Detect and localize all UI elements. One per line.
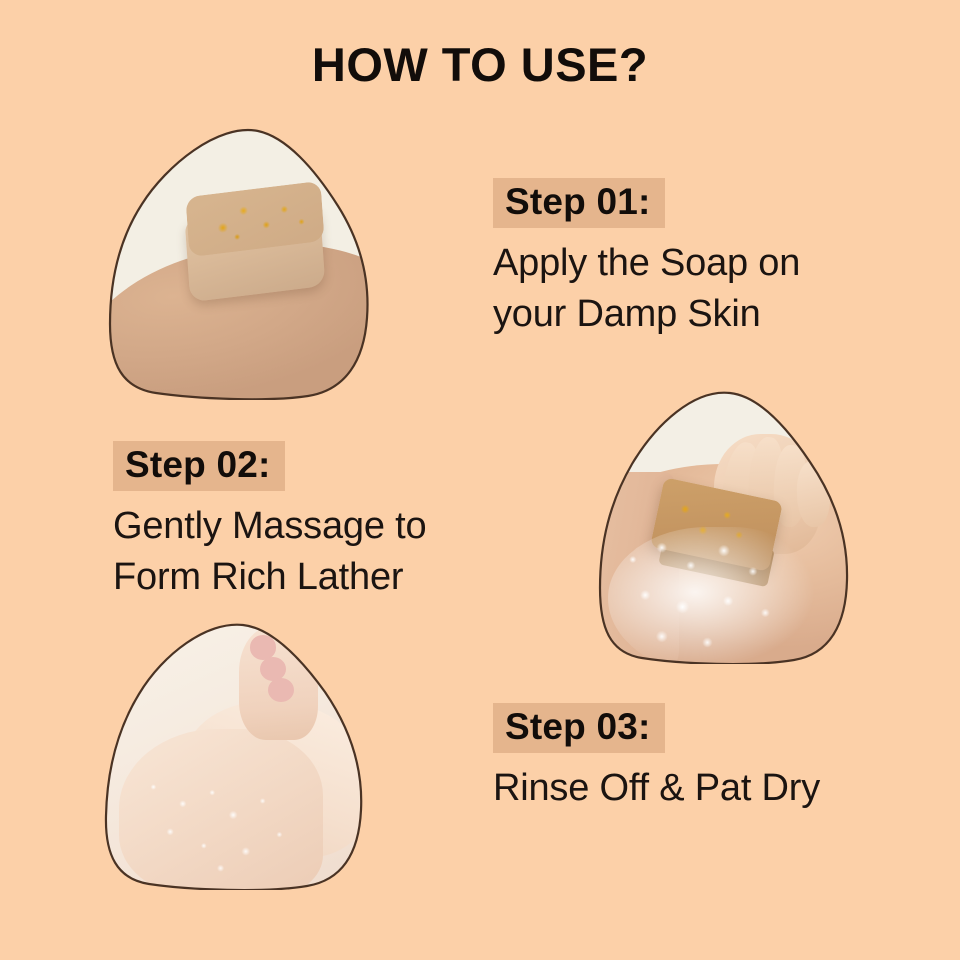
step-image-02 xyxy=(598,390,850,664)
foam-lather xyxy=(608,527,815,664)
step-image-01 xyxy=(108,128,370,400)
step-body-01: Apply the Soap on your Damp Skin xyxy=(493,238,913,340)
step-text-01: Step 01: Apply the Soap on your Damp Ski… xyxy=(493,178,913,340)
step-body-02: Gently Massage to Form Rich Lather xyxy=(113,501,533,603)
step-image-03 xyxy=(103,622,365,890)
step-text-03: Step 03: Rinse Off & Pat Dry xyxy=(493,703,913,814)
soap-bubbles xyxy=(124,745,334,884)
step-label-01: Step 01: xyxy=(493,178,665,228)
page-title: HOW TO USE? xyxy=(0,40,960,90)
finger xyxy=(796,461,831,528)
infographic-canvas: HOW TO USE? Step 01: A xyxy=(0,0,960,960)
step-label-03: Step 03: xyxy=(493,703,665,753)
step-text-02: Step 02: Gently Massage to Form Rich Lat… xyxy=(113,441,533,603)
step-body-03: Rinse Off & Pat Dry xyxy=(493,763,913,814)
rinsing-scene xyxy=(103,622,365,890)
lathering-scene xyxy=(598,390,850,664)
fingernail xyxy=(250,635,276,659)
soap-on-skin-scene xyxy=(108,128,370,400)
step-label-02: Step 02: xyxy=(113,441,285,491)
